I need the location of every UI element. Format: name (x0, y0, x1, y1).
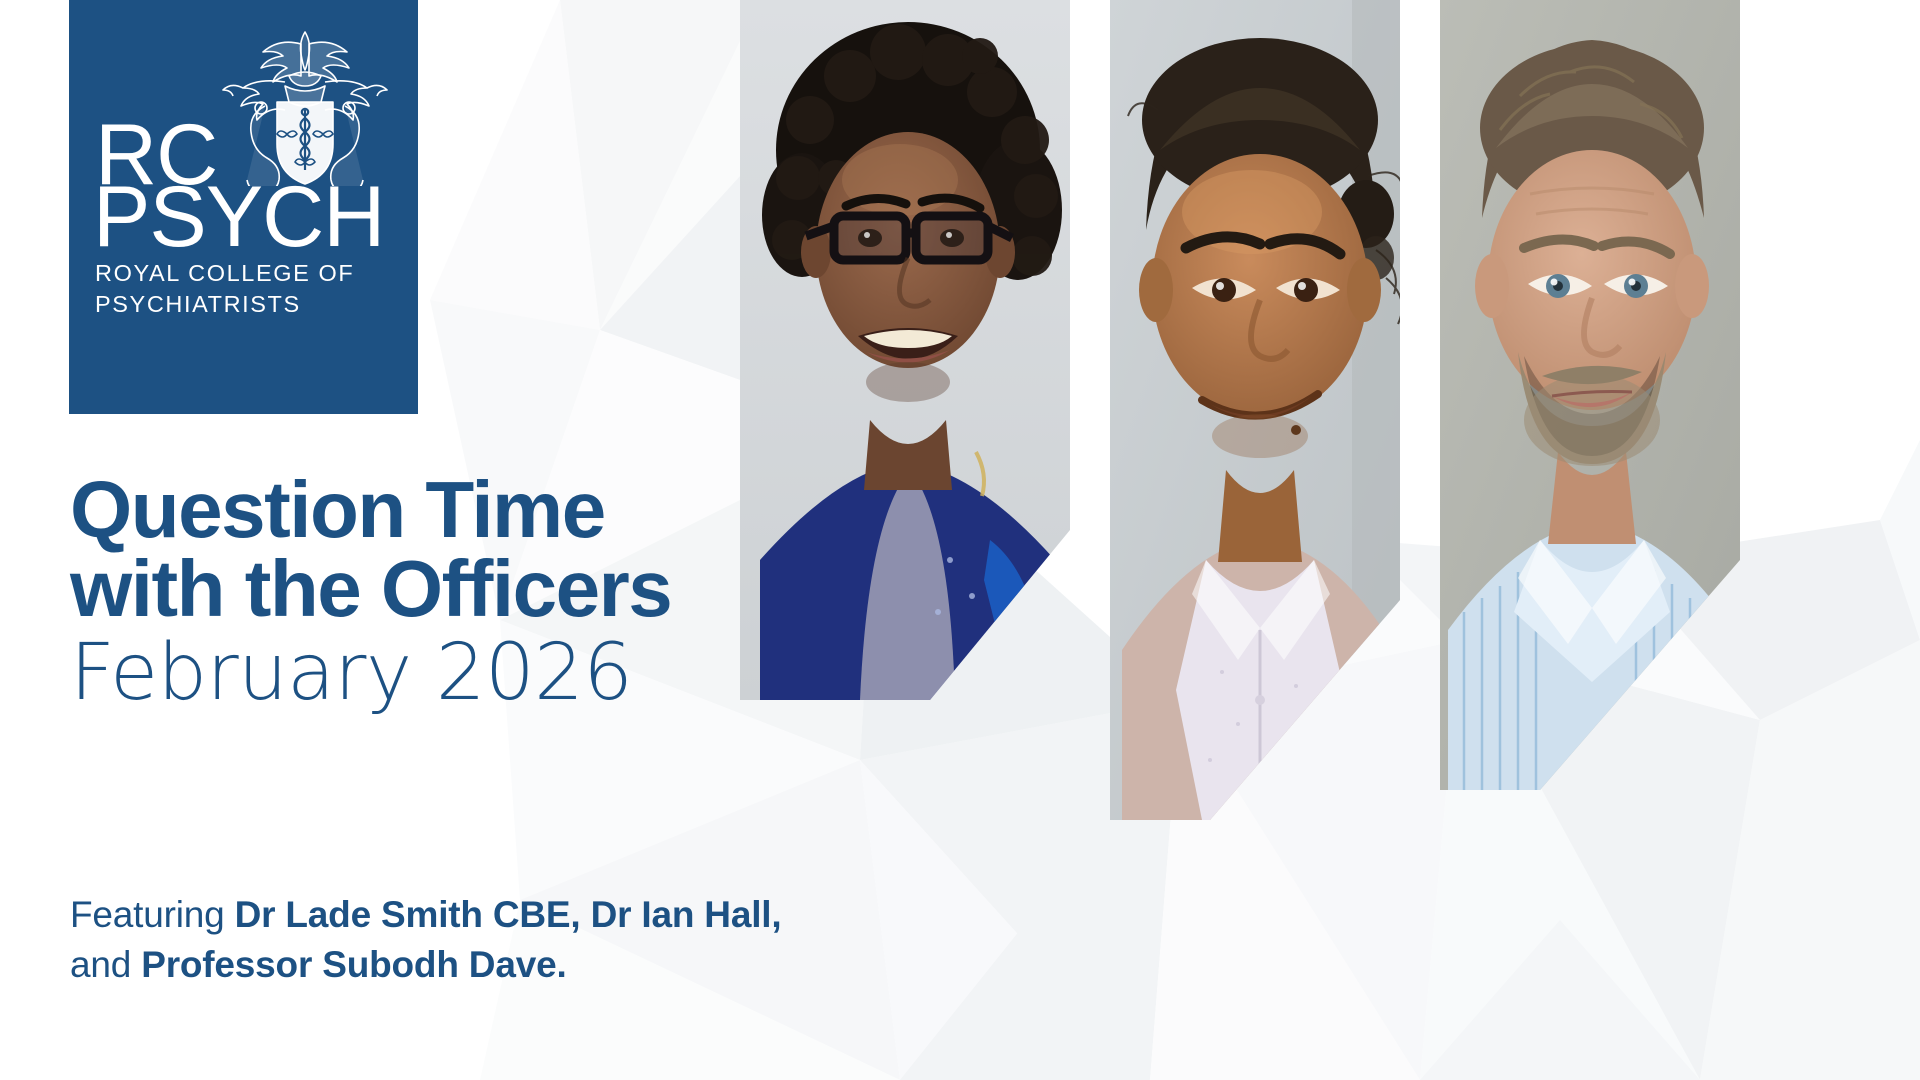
featuring-prefix: Featuring (70, 894, 235, 935)
featuring-block: Featuring Dr Lade Smith CBE, Dr Ian Hall… (70, 890, 1070, 989)
featuring-line-2: and Professor Subodh Dave. (70, 940, 1070, 990)
heraldic-crest-icon (217, 18, 393, 186)
portrait-dr-ian-hall (1440, 0, 1740, 790)
featuring-names-2: Professor Subodh Dave. (141, 944, 566, 985)
logo-line-psych: PSYCH (93, 174, 384, 260)
logo-subtitle-line1: ROYAL COLLEGE OF (95, 258, 395, 289)
event-banner: RC PSYCH ROYAL COLLEGE OF PSYCHIATRISTS … (0, 0, 1920, 1080)
portrait-professor-subodh-dave (1110, 0, 1402, 820)
logo-subtitle-line2: PSYCHIATRISTS (95, 289, 395, 320)
rcpsych-logo: RC PSYCH ROYAL COLLEGE OF PSYCHIATRISTS (69, 0, 418, 414)
title-date: February 2026 (70, 632, 990, 715)
title-line-1: Question Time (70, 470, 990, 549)
page-title: Question Time with the Officers February… (70, 470, 990, 715)
featuring-conjunction: and (70, 944, 141, 985)
logo-subtitle: ROYAL COLLEGE OF PSYCHIATRISTS (95, 258, 395, 321)
title-line-2: with the Officers (70, 549, 990, 628)
featuring-names-1: Dr Lade Smith CBE, Dr Ian Hall, (235, 894, 782, 935)
featuring-line-1: Featuring Dr Lade Smith CBE, Dr Ian Hall… (70, 890, 1070, 940)
